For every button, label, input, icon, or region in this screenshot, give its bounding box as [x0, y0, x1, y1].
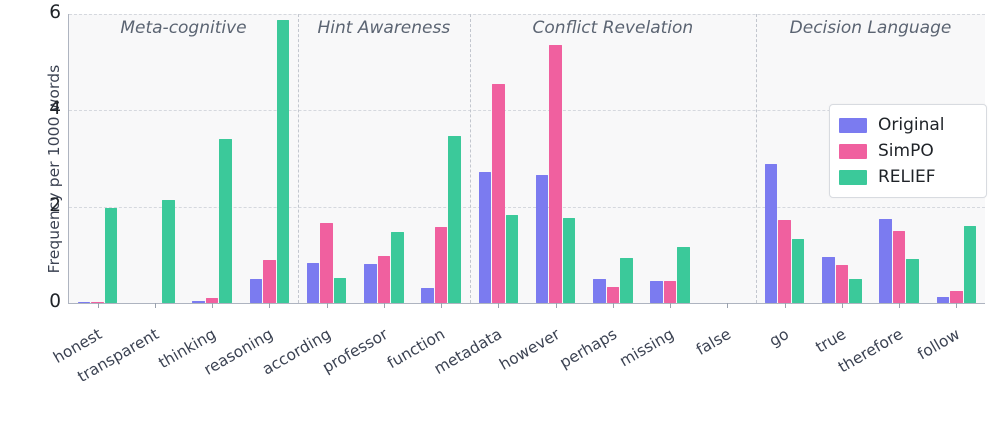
bar-original-thinking — [192, 301, 205, 303]
legend-item-simpo[interactable]: SimPO — [839, 138, 976, 164]
x-tick — [384, 303, 385, 308]
bar-original-honest — [78, 302, 91, 303]
bar-original-according — [307, 263, 320, 303]
bar-relief-metadata — [506, 215, 519, 303]
bar-simpo-therefore — [893, 231, 906, 303]
bar-relief-therefore — [906, 259, 919, 303]
legend-label-relief: RELIEF — [878, 167, 936, 187]
bar-original-however — [536, 175, 549, 303]
bar-simpo-metadata — [492, 84, 505, 303]
gridline — [69, 207, 985, 208]
bar-relief-go — [792, 239, 805, 303]
x-tick — [785, 303, 786, 308]
bar-original-follow — [937, 297, 950, 303]
bar-simpo-go — [778, 220, 791, 303]
bar-original-metadata — [479, 172, 492, 303]
bar-simpo-however — [549, 45, 562, 303]
bar-original-perhaps — [593, 279, 606, 303]
bar-original-professor — [364, 264, 377, 303]
x-tick — [269, 303, 270, 308]
x-tick — [613, 303, 614, 308]
bar-relief-reasoning — [277, 20, 290, 303]
x-tick — [727, 303, 728, 308]
bar-relief-follow — [964, 226, 977, 303]
x-tick-label-however: however — [496, 325, 563, 374]
bar-original-missing — [650, 281, 663, 303]
bar-relief-honest — [105, 208, 118, 303]
bar-original-function — [421, 288, 434, 303]
bar-simpo-missing — [664, 281, 677, 303]
bar-relief-perhaps — [620, 258, 633, 303]
y-tick-label: 0 — [23, 291, 61, 312]
x-tick-label-true: true — [812, 325, 849, 356]
x-tick — [155, 303, 156, 308]
bar-simpo-according — [320, 223, 333, 303]
x-tick-label-false: false — [693, 325, 734, 359]
bar-simpo-true — [836, 265, 849, 303]
bar-relief-missing — [677, 247, 690, 303]
x-tick — [212, 303, 213, 308]
group-separator — [756, 14, 757, 303]
bar-relief-function — [448, 136, 461, 303]
group-title-decision-language: Decision Language — [756, 18, 985, 38]
y-tick-label: 2 — [23, 195, 61, 216]
legend-label-simpo: SimPO — [878, 141, 934, 161]
x-tick — [556, 303, 557, 308]
group-separator — [470, 14, 471, 303]
bar-relief-transparent — [162, 200, 175, 303]
bar-original-go — [765, 164, 778, 303]
bar-relief-true — [849, 279, 862, 303]
x-tick — [842, 303, 843, 308]
x-tick-label-missing: missing — [617, 325, 678, 370]
group-title-conflict-revelation: Conflict Revelation — [470, 18, 756, 38]
bar-relief-thinking — [219, 139, 232, 303]
x-tick-label-perhaps: perhaps — [557, 325, 620, 372]
bar-relief-professor — [391, 232, 404, 303]
group-title-meta-cognitive: Meta-cognitive — [69, 18, 298, 38]
legend-item-original[interactable]: Original — [839, 112, 976, 138]
bar-relief-according — [334, 278, 347, 303]
x-tick — [327, 303, 328, 308]
chart-legend: Original SimPO RELIEF — [829, 104, 987, 198]
bar-original-reasoning — [250, 279, 263, 303]
y-tick-label: 4 — [23, 98, 61, 119]
bar-simpo-function — [435, 227, 448, 303]
bar-original-therefore — [879, 219, 892, 303]
x-tick — [441, 303, 442, 308]
legend-swatch-relief — [839, 170, 867, 185]
x-tick — [670, 303, 671, 308]
x-tick — [899, 303, 900, 308]
legend-swatch-original — [839, 118, 867, 133]
bar-relief-however — [563, 218, 576, 303]
bar-simpo-perhaps — [607, 287, 620, 303]
group-separator — [298, 14, 299, 303]
x-tick-label-go: go — [766, 325, 792, 350]
bar-chart-figure: Frequency per 1000 words 0246honesttrans… — [0, 0, 997, 423]
x-tick-label-therefore: therefore — [835, 325, 906, 376]
x-tick — [98, 303, 99, 308]
bar-original-true — [822, 257, 835, 303]
y-tick-label: 6 — [23, 2, 61, 23]
legend-swatch-simpo — [839, 144, 867, 159]
legend-label-original: Original — [878, 115, 945, 135]
x-tick — [498, 303, 499, 308]
y-axis-label: Frequency per 1000 words — [45, 19, 63, 319]
group-title-hint-awareness: Hint Awareness — [298, 18, 470, 38]
gridline — [69, 14, 985, 15]
legend-item-relief[interactable]: RELIEF — [839, 164, 976, 190]
bar-simpo-follow — [950, 291, 963, 303]
x-tick-label-follow: follow — [915, 325, 964, 363]
x-tick — [956, 303, 957, 308]
bar-simpo-professor — [378, 256, 391, 303]
bar-simpo-reasoning — [263, 260, 276, 303]
